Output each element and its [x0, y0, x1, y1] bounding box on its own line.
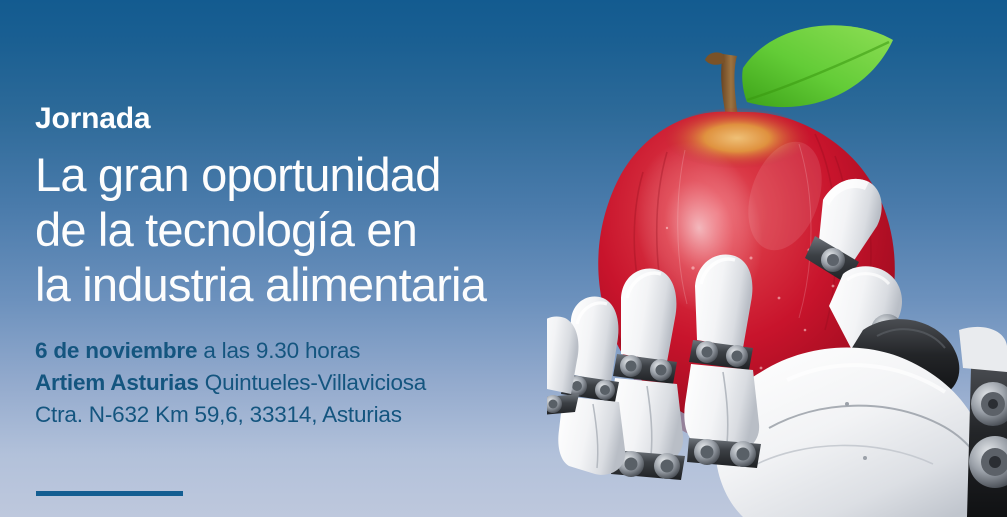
event-details: 6 de noviembre a las 9.30 horas Artiem A… [35, 335, 595, 431]
event-venue-name: Artiem Asturias [35, 370, 199, 395]
headline-line-1: La gran oportunidad [35, 148, 595, 203]
event-venue-locality: Quintueles-Villaviciosa [199, 370, 426, 395]
event-date-line: 6 de noviembre a las 9.30 horas [35, 335, 595, 367]
event-address: Ctra. N-632 Km 59,6, 33314, Asturias [35, 399, 595, 431]
page-title: La gran oportunidad de la tecnología en … [35, 148, 595, 313]
headline-line-3: la industria alimentaria [35, 258, 595, 313]
event-time: a las 9.30 horas [197, 338, 360, 363]
headline-line-2: de la tecnología en [35, 203, 595, 258]
kicker-label: Jornada [35, 104, 595, 134]
event-poster: Jornada La gran oportunidad de la tecnol… [0, 0, 1007, 517]
event-date: 6 de noviembre [35, 338, 197, 363]
robot-finger-4 [684, 254, 761, 468]
accent-rule [36, 491, 183, 496]
robot-hand-apple-image [547, 0, 1007, 517]
event-venue-line: Artiem Asturias Quintueles-Villaviciosa [35, 367, 595, 399]
poster-text-block: Jornada La gran oportunidad de la tecnol… [35, 104, 595, 431]
